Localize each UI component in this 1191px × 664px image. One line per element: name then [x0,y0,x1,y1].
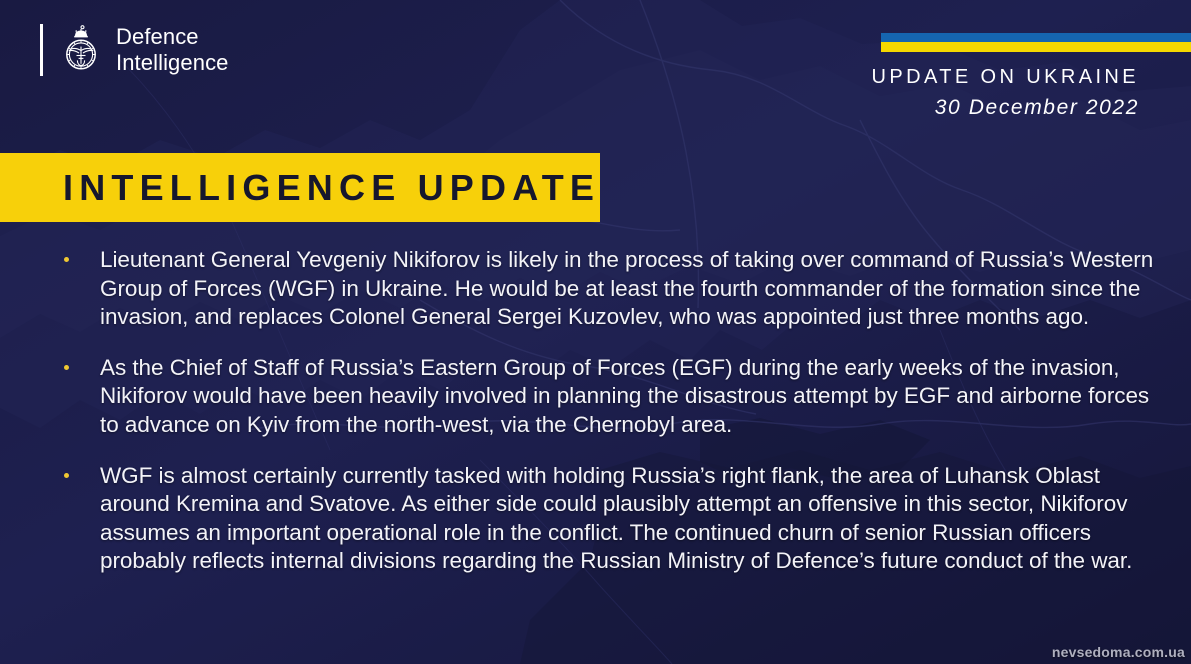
brand-line-intelligence: Intelligence [116,50,229,76]
intelligence-update-banner: INTELLIGENCE UPDATE [0,153,600,222]
banner-label: INTELLIGENCE UPDATE [0,170,600,206]
bullet-text: As the Chief of Staff of Russia’s Easter… [100,354,1154,440]
flag-yellow-band [881,42,1191,52]
list-item: As the Chief of Staff of Russia’s Easter… [64,354,1154,440]
bullet-dot-icon [64,354,100,370]
list-item: WGF is almost certainly currently tasked… [64,462,1154,576]
bullet-dot-icon [64,246,100,262]
source-watermark: nevsedoma.com.ua [1052,644,1185,660]
bullet-list: Lieutenant General Yevgeniy Nikiforov is… [64,246,1154,576]
bullet-text: WGF is almost certainly currently tasked… [100,462,1154,576]
masthead: Defence Intelligence UPDATE ON UKRAINE 3… [0,0,1191,150]
list-item: Lieutenant General Yevgeniy Nikiforov is… [64,246,1154,332]
ukraine-flag-bar-icon [881,33,1191,52]
bullet-text: Lieutenant General Yevgeniy Nikiforov is… [100,246,1154,332]
update-heading: UPDATE ON UKRAINE 30 December 2022 [872,64,1139,123]
flag-blue-band [881,33,1191,42]
update-title: UPDATE ON UKRAINE [872,64,1139,90]
defence-intelligence-crest-icon [58,24,104,76]
bullet-dot-icon [64,462,100,478]
brand-lockup: Defence Intelligence [40,24,229,76]
brand-line-defence: Defence [116,24,229,50]
intelligence-update-graphic: Defence Intelligence UPDATE ON UKRAINE 3… [0,0,1191,664]
brand-name: Defence Intelligence [116,24,229,76]
update-date: 30 December 2022 [872,93,1139,123]
brand-divider-rule [40,24,43,76]
